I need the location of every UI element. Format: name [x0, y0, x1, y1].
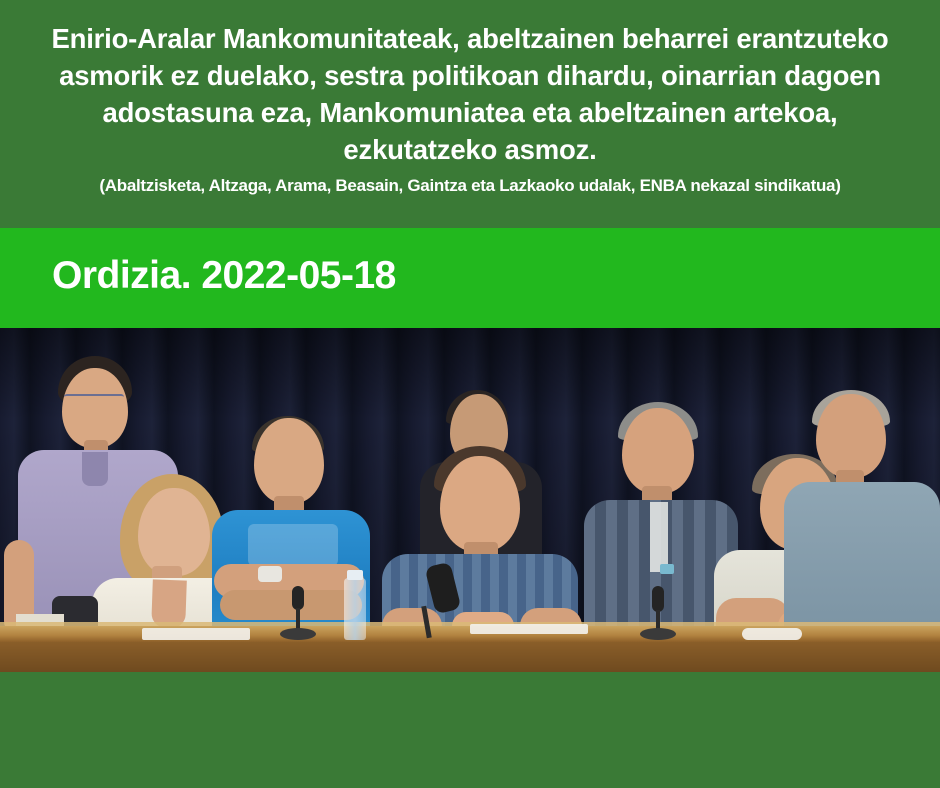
desk-front — [0, 642, 940, 672]
footer-band: enba EUSKAL NEKAZARIEN BATASUNA — [0, 672, 940, 788]
head — [440, 456, 520, 552]
head — [816, 394, 886, 478]
shirt-placket — [650, 502, 668, 572]
papers-right — [742, 628, 802, 640]
head — [62, 368, 128, 448]
head — [138, 488, 210, 576]
arm-crossed-lower — [220, 590, 362, 620]
header-subtitle: (Abaltzisketa, Altzaga, Arama, Beasain, … — [16, 175, 924, 197]
poster-root: Enirio-Aralar Mankomunitateak, abeltzain… — [0, 0, 940, 788]
tshirt-graphic — [248, 524, 338, 566]
microphone-base-left — [280, 628, 316, 640]
bottle-cap — [347, 570, 363, 580]
water-bottle — [344, 578, 366, 640]
microphone-head-right — [652, 586, 664, 612]
shirt-logo-icon — [660, 564, 674, 574]
press-conference-photo — [0, 328, 940, 672]
head — [622, 408, 694, 494]
papers-center — [470, 624, 588, 634]
header-band: Enirio-Aralar Mankomunitateak, abeltzain… — [0, 0, 940, 228]
wristwatch — [258, 566, 282, 582]
location-date-label: Ordizia. 2022-05-18 — [52, 254, 396, 298]
glasses-icon — [64, 394, 124, 405]
microphone-base-right — [640, 628, 676, 640]
microphone-head-left — [292, 586, 304, 610]
date-band: Ordizia. 2022-05-18 — [0, 228, 940, 328]
polo-collar — [82, 452, 108, 486]
torso-shirt — [784, 482, 940, 632]
head — [254, 418, 324, 504]
page-title: Enirio-Aralar Mankomunitateak, abeltzain… — [16, 20, 924, 168]
papers-left — [142, 628, 250, 640]
